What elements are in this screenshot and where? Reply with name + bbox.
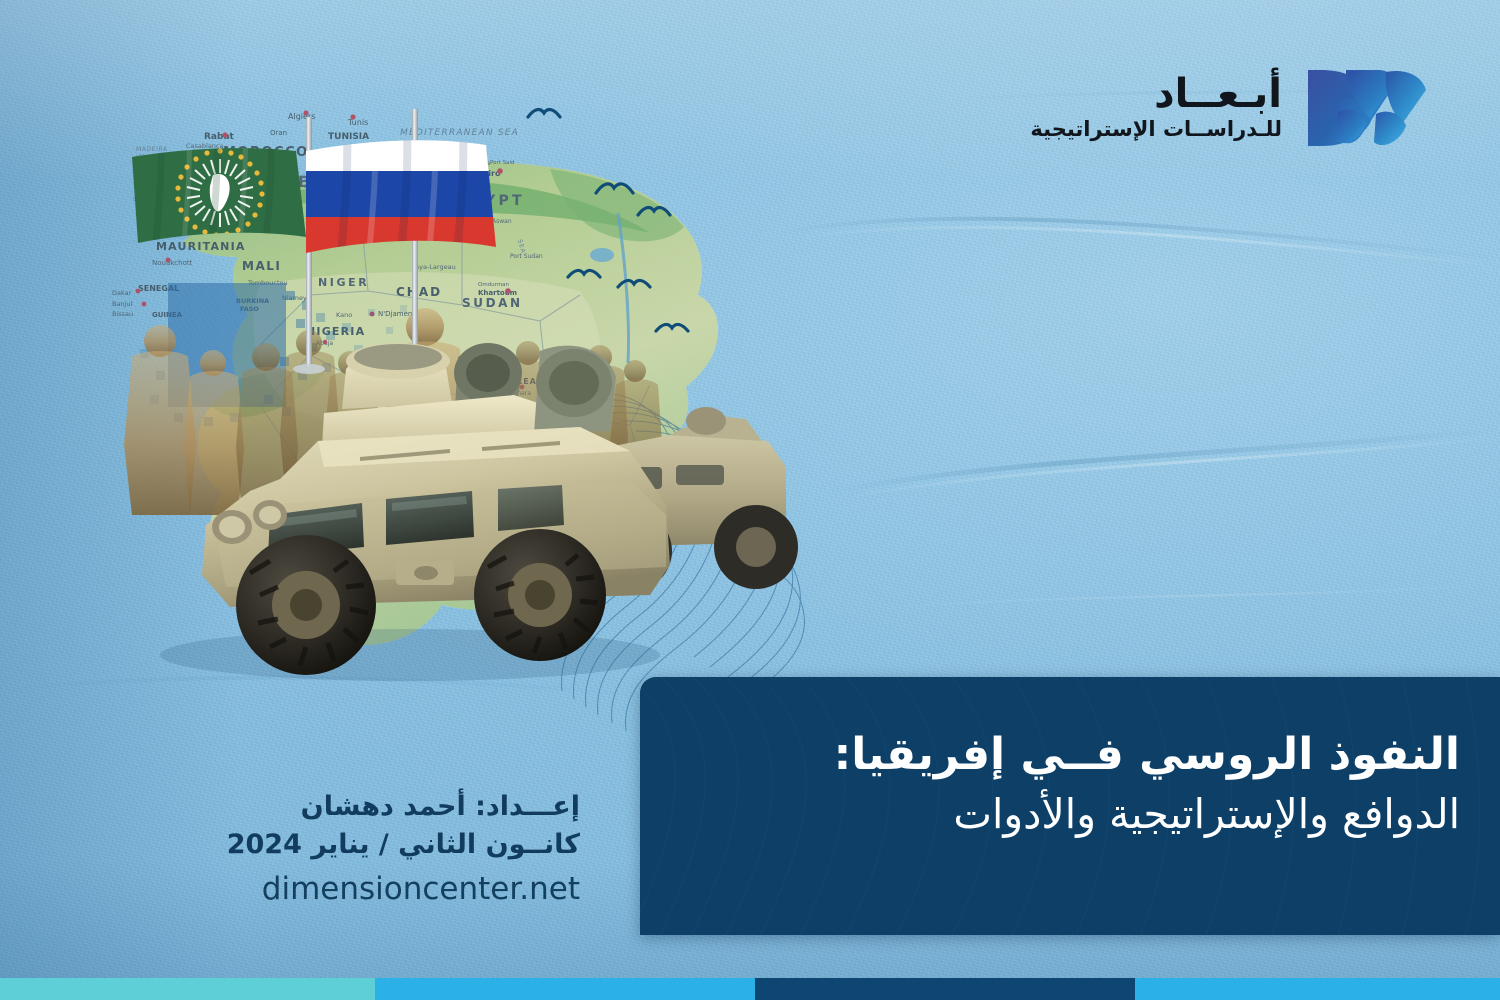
credits-block: إعـــداد: أحمد دهشان كانــون الثاني / ين… [180, 788, 580, 911]
publication-date: كانــون الثاني / يناير 2024 [180, 826, 580, 864]
bottom-bar-segment-1 [0, 978, 375, 1000]
hero-collage: MEDITERRANEAN SEA MADEIRA ISLANDS CANARY… [110, 95, 830, 735]
armored-vehicle-front [110, 95, 830, 735]
title-line-2: الدوافع والإستراتيجية والأدوات [664, 787, 1460, 842]
author-line: إعـــداد: أحمد دهشان [180, 788, 580, 826]
brand-tagline-arabic: للـدراســات الإستراتيجية [1030, 117, 1282, 142]
website-url[interactable]: dimensioncenter.net [180, 867, 580, 911]
poster-canvas: MEDITERRANEAN SEA MADEIRA ISLANDS CANARY… [0, 0, 1500, 1000]
brand-name-arabic: أبـعــاد [1030, 73, 1282, 115]
bottom-bar-segment-3 [755, 978, 1135, 1000]
title-text-group: النفوذ الروسي فــي إفريقيا: الدوافع والإ… [664, 727, 1460, 842]
brand-wordmark: أبـعــاد للـدراســات الإستراتيجية [1030, 73, 1282, 142]
title-panel: النفوذ الروسي فــي إفريقيا: الدوافع والإ… [640, 677, 1500, 935]
title-line-1: النفوذ الروسي فــي إفريقيا: [664, 727, 1460, 783]
bottom-bar-segment-4 [1135, 978, 1500, 1000]
dss-monogram-icon [1300, 62, 1428, 154]
bottom-color-bar [0, 978, 1500, 1000]
brand-logo[interactable]: أبـعــاد للـدراســات الإستراتيجية [1030, 62, 1428, 154]
bottom-bar-segment-2 [375, 978, 755, 1000]
